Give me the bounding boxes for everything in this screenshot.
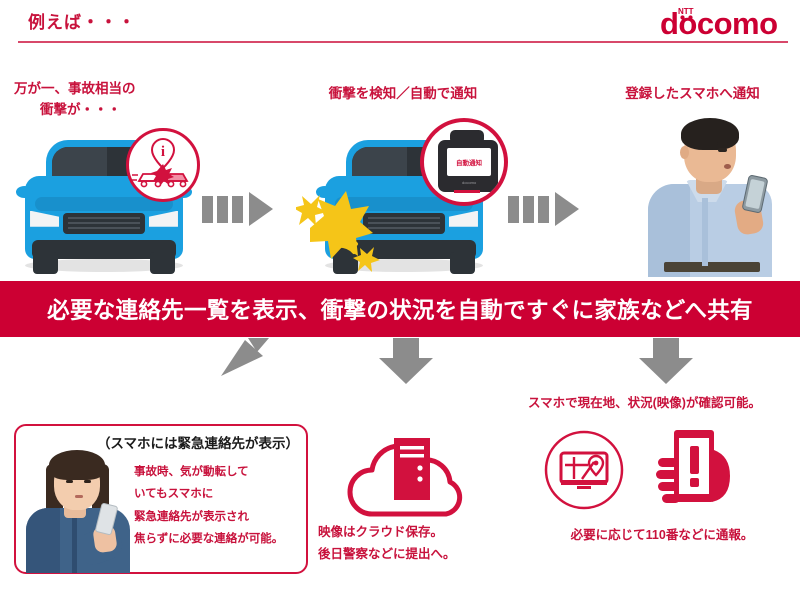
banner-text: 必要な連絡先一覧を表示、衝撃の状況を自動ですぐに家族などへ共有 (47, 293, 753, 325)
flow-arrow-down-center (379, 338, 433, 384)
status-check-block: スマホで現在地、状況(映像)が確認可能。 (528, 392, 796, 562)
cloud-caption-line-1: 映像はクラウド保存。 (318, 522, 518, 544)
flow-arrow-down-right (639, 338, 693, 384)
step1-caption-line1: 万が一、事故相当の (14, 81, 136, 96)
status-check-icons (536, 428, 796, 512)
hand-holding-phone-alert-icon (646, 428, 742, 512)
slide-root: 例えば・・・ docomo NTT 万が一、事故相当の 衝撃が・・・ 衝撃を検知… (0, 0, 800, 600)
flow-arrow-1 (202, 192, 273, 226)
dashcam-brand-label: docomo (462, 180, 476, 185)
flow-arrow-down-left (205, 338, 275, 388)
cloud-storage-block: 映像はクラウド保存。 後日警察などに提出へ。 (318, 430, 518, 575)
panel-body-line-4: 焦らずに必要な連絡が可能。 (134, 528, 304, 550)
impact-burst-icon (296, 176, 406, 276)
dashcam-icon: 自動通知 docomo (420, 118, 508, 206)
map-location-monitor-icon (536, 428, 636, 512)
cloud-server-icon (332, 430, 492, 522)
accident-collision-icon: i (126, 128, 200, 202)
page-title: 例えば・・・ (28, 8, 136, 33)
panel-body: 事故時、気が動転して いてもスマホに 緊急連絡先が表示され 焦らずに必要な連絡が… (134, 461, 304, 551)
woman-with-smartphone-photo (22, 442, 134, 573)
panel-body-line-2: いてもスマホに (134, 483, 304, 505)
step3-caption: 登録したスマホへ通知 (585, 84, 800, 105)
status-check-bottom-text: 必要に応じて110番などに通報。 (528, 524, 796, 543)
highlight-banner: 必要な連絡先一覧を表示、衝撃の状況を自動ですぐに家族などへ共有 (0, 281, 800, 337)
svg-text:NTT: NTT (678, 7, 694, 16)
panel-title: （スマホには緊急連絡先が表示） (90, 432, 306, 452)
dashcam-screen-label: 自動通知 (456, 157, 482, 167)
step1-caption: 万が一、事故相当の 衝撃が・・・ (14, 79, 224, 121)
panel-body-line-1: 事故時、気が動転して (134, 461, 304, 483)
flow-arrow-2 (508, 192, 579, 226)
svg-text:i: i (161, 144, 165, 160)
panel-body-line-3: 緊急連絡先が表示され (134, 506, 304, 528)
man-with-smartphone-photo (640, 112, 790, 277)
docomo-logo: docomo NTT (656, 4, 784, 38)
cloud-caption: 映像はクラウド保存。 後日警察などに提出へ。 (318, 522, 518, 566)
header-divider (18, 41, 788, 43)
cloud-caption-line-2: 後日警察などに提出へ。 (318, 544, 518, 566)
status-check-top-text: スマホで現在地、状況(映像)が確認可能。 (528, 392, 796, 411)
step2-caption: 衝撃を検知／自動で通知 (298, 84, 508, 105)
step1-caption-line2: 衝撃が・・・ (14, 100, 224, 121)
emergency-contacts-panel: （スマホには緊急連絡先が表示） 事故時、気が動転して いてもスマホに 緊急連絡先… (14, 424, 308, 574)
